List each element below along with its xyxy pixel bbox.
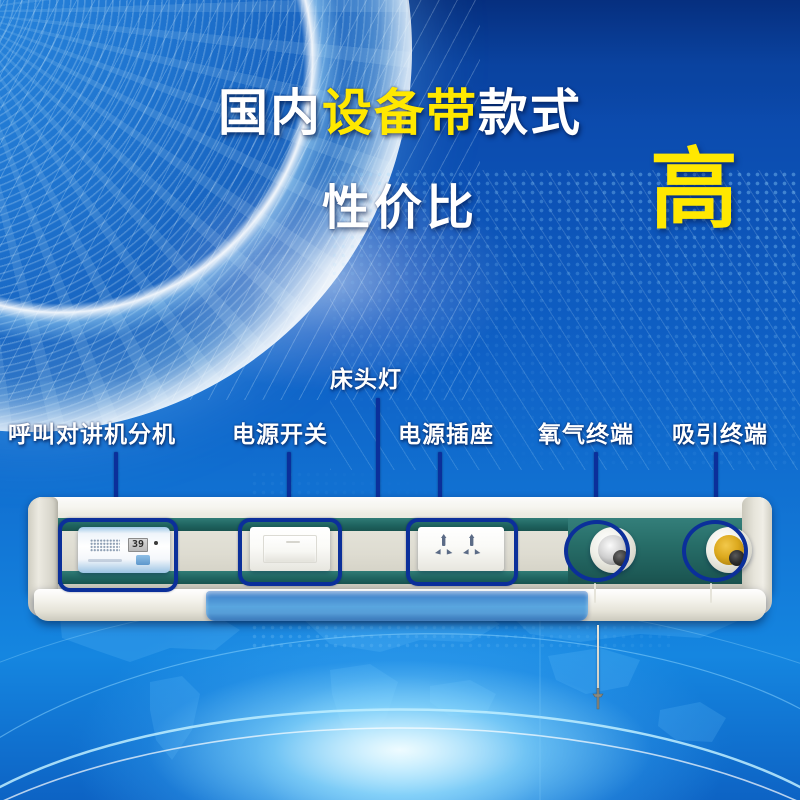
highlight-box-intercom (58, 518, 178, 592)
pull-cord-handle-icon[interactable] (586, 688, 610, 712)
suction-cable (710, 583, 712, 603)
unit-top-highlight (28, 497, 772, 513)
highlight-circle-suction (682, 520, 748, 582)
highlight-box-switch (238, 518, 342, 586)
callout-label-suction: 吸引终端 (672, 415, 768, 449)
headline-part-2: 设备带 (322, 84, 478, 142)
callout-label-bedlamp: 床头灯 (330, 360, 402, 394)
callout-label-intercom: 呼叫对讲机分机 (8, 415, 176, 449)
callout-label-switch: 电源开关 (232, 415, 328, 449)
subheadline-text: 性价比 (322, 180, 478, 236)
highlight-box-socket (406, 518, 518, 586)
oxygen-cable (594, 583, 596, 603)
product-banner-image: 国内设备带款式 性价比 高 呼叫对讲机分机 电源开关 床头灯 电源插座 氧气终端… (0, 0, 800, 800)
callout-label-oxygen: 氧气终端 (538, 415, 634, 449)
bed-lamp-diffuser[interactable] (206, 591, 588, 621)
headline-part-1: 国内 (218, 84, 322, 142)
callout-label-socket: 电源插座 (398, 415, 494, 449)
highlight-circle-oxygen (564, 520, 630, 582)
highlight-character: 高 (650, 146, 738, 234)
pull-cord[interactable] (597, 625, 599, 693)
headline: 国内设备带款式 (0, 88, 800, 138)
headline-part-3: 款式 (478, 84, 582, 142)
